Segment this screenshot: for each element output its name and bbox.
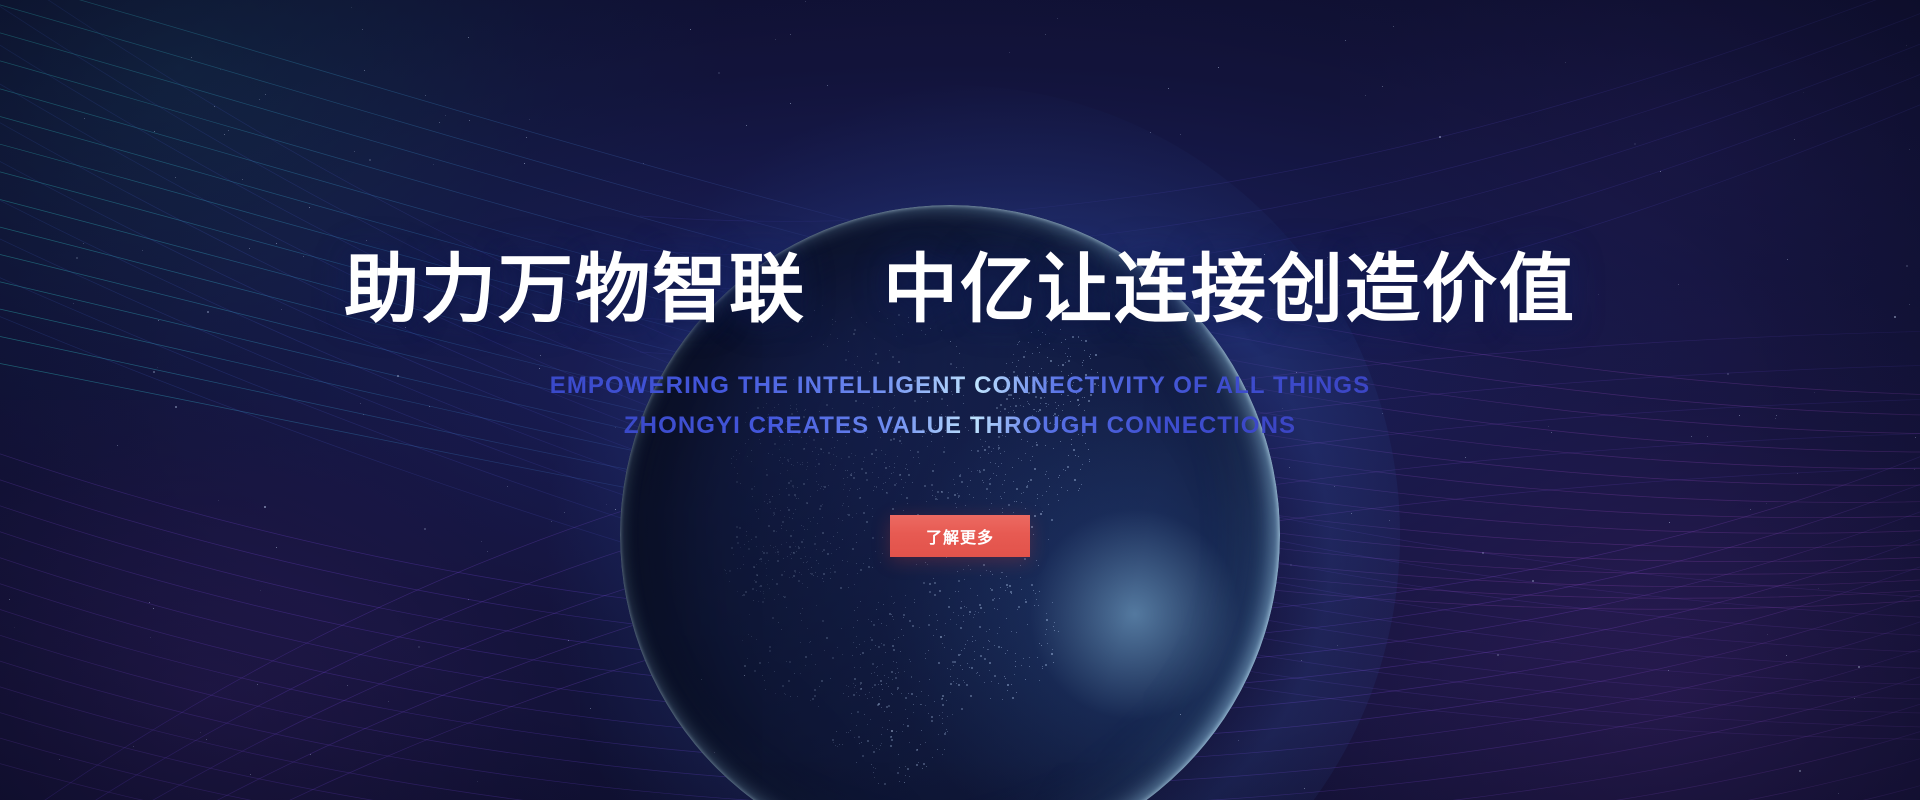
- hero-banner: 助力万物智联 中亿让连接创造价值 EMPOWERING THE INTELLIG…: [0, 0, 1920, 800]
- subtitle-line-1: EMPOWERING THE INTELLIGENT CONNECTIVITY …: [550, 369, 1371, 403]
- learn-more-button[interactable]: 了解更多: [890, 515, 1030, 557]
- banner-content: 助力万物智联 中亿让连接创造价值 EMPOWERING THE INTELLIG…: [0, 0, 1920, 800]
- page-title: 助力万物智联 中亿让连接创造价值: [344, 252, 1576, 327]
- subtitle-line-2: ZHONGYI CREATES VALUE THROUGH CONNECTION…: [624, 409, 1296, 443]
